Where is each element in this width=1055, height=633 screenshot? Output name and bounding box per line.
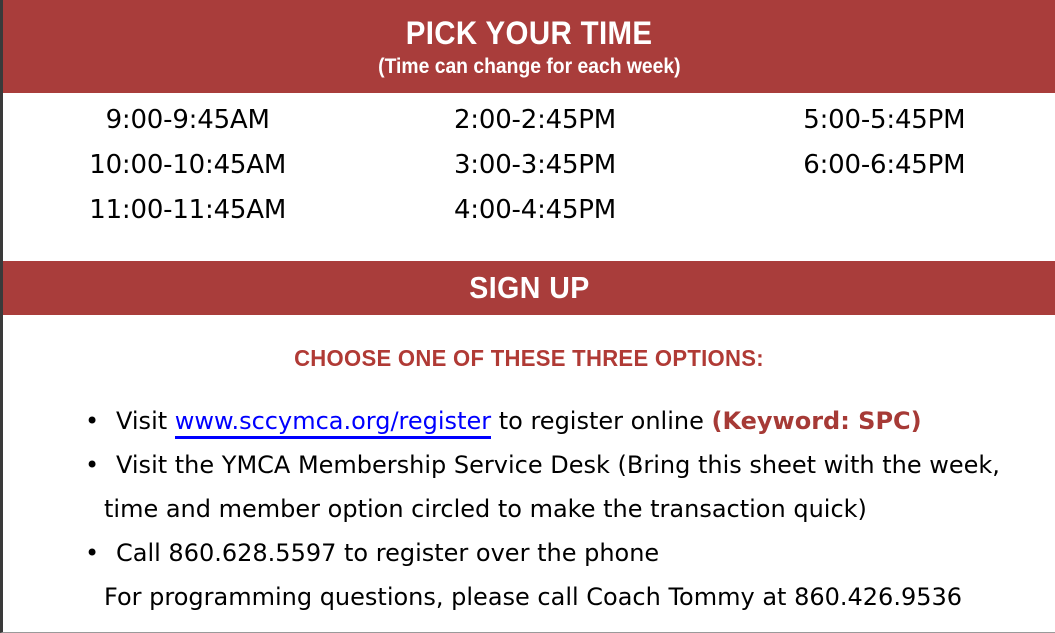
time-slot[interactable]: 3:00-3:45PM — [454, 152, 616, 178]
time-slot[interactable]: 4:00-4:45PM — [454, 197, 616, 223]
bullet-icon: • — [85, 443, 95, 487]
page-subtitle: (Time can change for each week) — [378, 56, 680, 78]
list-item: • Call 860.628.5597 to register over the… — [3, 531, 1055, 575]
time-column-afternoon: 2:00-2:45PM 3:00-3:45PM 4:00-4:45PM — [358, 107, 705, 260]
option-line-1: Visit the YMCA Membership Service Desk (… — [116, 451, 1000, 479]
options-section: CHOOSE ONE OF THESE THREE OPTIONS: • Vis… — [3, 315, 1055, 619]
sign-up-label: SIGN UP — [469, 270, 589, 306]
options-heading: CHOOSE ONE OF THESE THREE OPTIONS: — [24, 315, 1034, 372]
list-item: • Visit www.sccymca.org/register to regi… — [3, 399, 1055, 443]
bullet-icon: • — [85, 531, 95, 575]
time-slot[interactable]: 5:00-5:45PM — [803, 107, 965, 133]
time-slot[interactable]: 10:00-10:45AM — [89, 152, 286, 178]
page-title: PICK YOUR TIME — [406, 17, 653, 50]
sign-up-banner: SIGN UP — [3, 261, 1055, 315]
time-slot[interactable]: 2:00-2:45PM — [454, 107, 616, 133]
time-slot-grid: 9:00-9:45AM 10:00-10:45AM 11:00-11:45AM … — [3, 93, 1055, 260]
option-line-2: time and member option circled to make t… — [104, 487, 1055, 531]
keyword-badge: (Keyword: SPC) — [711, 407, 921, 435]
time-column-evening: 5:00-5:45PM 6:00-6:45PM — [706, 107, 1055, 260]
time-slot[interactable]: 11:00-11:45AM — [89, 197, 286, 223]
option-middle-text: to register online — [491, 407, 711, 435]
time-slot[interactable]: 9:00-9:45AM — [106, 107, 270, 133]
list-item: • Visit the YMCA Membership Service Desk… — [3, 443, 1055, 531]
register-online-link[interactable]: www.sccymca.org/register — [175, 407, 491, 439]
programming-questions-note: For programming questions, please call C… — [3, 575, 1055, 619]
option-line-1: Call 860.628.5597 to register over the p… — [116, 539, 659, 567]
time-column-morning: 9:00-9:45AM 10:00-10:45AM 11:00-11:45AM — [3, 107, 358, 260]
pick-your-time-banner: PICK YOUR TIME (Time can change for each… — [3, 0, 1055, 93]
options-list: • Visit www.sccymca.org/register to regi… — [3, 399, 1055, 575]
bullet-icon: • — [85, 399, 95, 443]
option-prefix-text: Visit — [116, 407, 175, 435]
time-slot[interactable]: 6:00-6:45PM — [803, 152, 965, 178]
flyer-page: PICK YOUR TIME (Time can change for each… — [0, 0, 1055, 633]
